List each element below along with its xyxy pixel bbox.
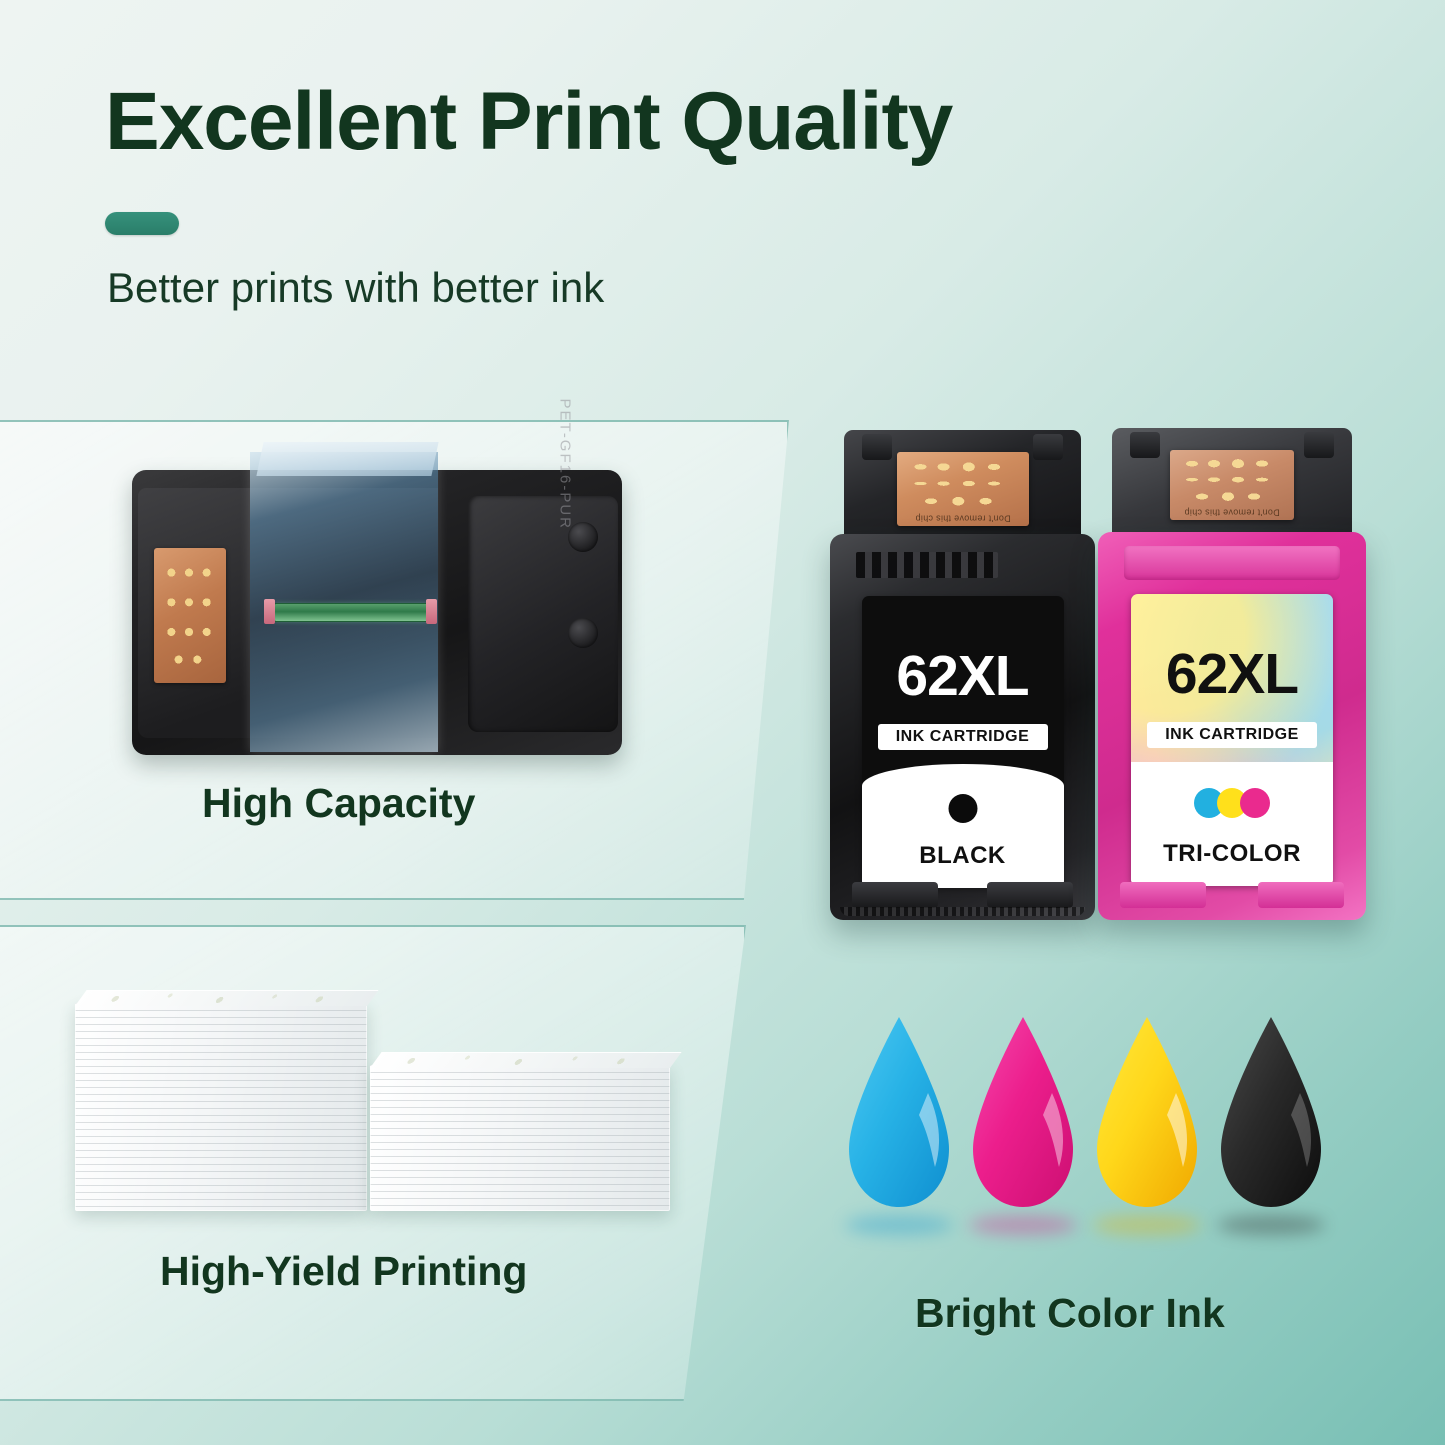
ink-cartridge-pill: INK CARTRIDGE (1147, 722, 1317, 748)
ink-cartridge-pill: INK CARTRIDGE (878, 724, 1048, 750)
drop-shadow (969, 1215, 1077, 1235)
paper-stack-top-edge (370, 1052, 682, 1068)
caption-high-capacity: High Capacity (202, 780, 475, 827)
black-cartridge: Don't remove this chip 62XL INK CARTRIDG… (830, 430, 1095, 920)
cartridge-grip (852, 882, 938, 908)
accent-divider (105, 212, 179, 235)
paper-stack-small (370, 1065, 670, 1211)
protective-tape-flap (256, 442, 438, 476)
contact-chip-black: Don't remove this chip (897, 452, 1029, 526)
chip-warning-text: Don't remove this chip (1170, 507, 1294, 517)
ink-color-name: TRI-COLOR (1131, 840, 1333, 868)
caption-bright-color-ink: Bright Color Ink (915, 1290, 1225, 1337)
paper-stack-top-edge (75, 990, 379, 1006)
magenta-ink-drop-icon (969, 1015, 1077, 1211)
page-subtitle: Better prints with better ink (107, 264, 604, 312)
contact-chip (154, 548, 226, 683)
chip-contact-pads (1182, 458, 1281, 504)
cartridge-latch-ear (862, 434, 892, 460)
label-lower-section: TRI-COLOR (1131, 762, 1333, 886)
printhead-cartridge-photo: PET-GF16-PUR (132, 470, 622, 755)
cartridge-latch-ear (1130, 432, 1160, 458)
cartridge-label-black: 62XL INK CARTRIDGE BLACK (862, 596, 1064, 888)
contact-chip-color: Don't remove this chip (1170, 450, 1294, 520)
tri-color-dots-icon (1194, 788, 1270, 818)
cartridge-top-tab (1124, 546, 1340, 580)
black-ink-dot-icon (948, 794, 977, 823)
black-ink-drop-icon (1217, 1015, 1325, 1211)
chip-contact-pads (910, 461, 1016, 510)
cartridge-latch-ear (1304, 432, 1334, 458)
nozzle-plate (274, 603, 428, 622)
chip-warning-text: Don't remove this chip (897, 513, 1029, 523)
cartridge-top-black: Don't remove this chip (844, 430, 1081, 548)
drop-shadow (1093, 1215, 1201, 1235)
ink-droplets-group (845, 1015, 1345, 1230)
drop-shadow (845, 1215, 953, 1235)
paper-stack-large (75, 1003, 367, 1211)
yellow-ink-drop-icon (1093, 1015, 1201, 1211)
nozzle-end-seal (264, 599, 275, 624)
vent-strip (856, 552, 998, 578)
model-number: 62XL (862, 648, 1064, 705)
protective-tape (250, 452, 438, 752)
page-title: Excellent Print Quality (105, 75, 952, 169)
cartridge-body-color: 62XL INK CARTRIDGE TRI-COLOR (1098, 532, 1366, 920)
model-number: 62XL (1131, 646, 1333, 703)
nozzle-end-seal (426, 599, 437, 624)
product-feature-banner: Excellent Print Quality Better prints wi… (0, 0, 1445, 1445)
cartridge-latch-ear (1033, 434, 1063, 460)
ink-cartridge-text: INK CARTRIDGE (896, 728, 1030, 746)
paper-top-flecks (370, 1052, 682, 1068)
drop-shadow (1217, 1215, 1325, 1235)
label-lower-section: BLACK (862, 764, 1064, 888)
chip-contact-pads (163, 562, 215, 668)
magenta-dot (1240, 788, 1270, 818)
cartridge-grip (1258, 882, 1344, 908)
screw-boss-icon (568, 618, 598, 648)
cartridge-grip (987, 882, 1073, 908)
ink-cartridge-text: INK CARTRIDGE (1165, 726, 1299, 744)
cyan-ink-drop-icon (845, 1015, 953, 1211)
cartridge-base-ridge (840, 907, 1085, 916)
molded-plastic-code: PET-GF16-PUR (557, 398, 574, 530)
caption-high-yield: High-Yield Printing (160, 1248, 527, 1295)
ink-color-name: BLACK (862, 842, 1064, 870)
tri-color-cartridge: Don't remove this chip 62XL INK CARTRIDG… (1098, 428, 1366, 920)
cartridge-top-color: Don't remove this chip (1112, 428, 1352, 546)
cartridge-label-color: 62XL INK CARTRIDGE TRI-COLOR (1131, 594, 1333, 886)
paper-top-flecks (75, 990, 379, 1006)
cartridge-grip (1120, 882, 1206, 908)
cartridge-body-black: 62XL INK CARTRIDGE BLACK (830, 534, 1095, 920)
